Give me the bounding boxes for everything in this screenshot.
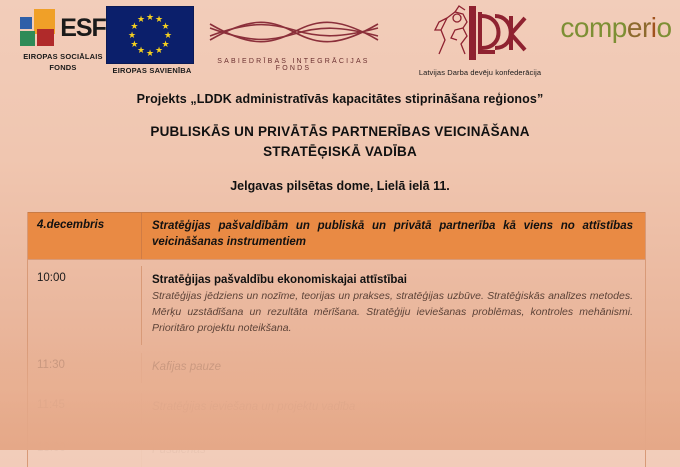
eu-star-icon: ★ bbox=[146, 49, 155, 58]
title-block: Projekts „LDDK administratīvās kapacitāt… bbox=[0, 92, 680, 193]
esf-acronym: ESF bbox=[60, 16, 106, 41]
eu-star-icon: ★ bbox=[155, 46, 164, 55]
lddk-logo: Latvijas Darba devēju konfederācija bbox=[404, 4, 556, 77]
lddk-lion-emblem-icon bbox=[425, 4, 535, 62]
esf-caption-line2: FONDS bbox=[8, 63, 118, 72]
agenda-row-description: Stratēģijas jēdziens un nozīme, teorijas… bbox=[152, 289, 633, 336]
agenda-table: 4.decembris Stratēģijas pašvaldībām un p… bbox=[27, 212, 646, 467]
venue-text: Jelgavas pilsētas dome, Lielā ielā 11. bbox=[0, 179, 680, 193]
table-row: 10:00 Stratēģijas pašvaldību ekonomiskaj… bbox=[28, 260, 645, 345]
comperio-part4: o bbox=[657, 12, 672, 43]
sponsor-logo-strip: ESF EIROPAS SOCIĀLAIS FONDS ★★★★★★★★★★★★… bbox=[0, 0, 680, 86]
eu-flag-logo: ★★★★★★★★★★★★ EIROPAS SAVIENĪBA bbox=[106, 6, 198, 75]
agenda-row-time: 11:45 bbox=[37, 399, 141, 411]
presentation-slide: ESF EIROPAS SOCIĀLAIS FONDS ★★★★★★★★★★★★… bbox=[0, 0, 680, 450]
comperio-wordmark: comperio bbox=[556, 14, 676, 42]
eu-star-icon: ★ bbox=[130, 40, 139, 49]
agenda-row-title: Stratēģijas pašvaldību ekonomiskajai att… bbox=[152, 272, 633, 289]
sif-logo: SABIEDRĪBAS INTEGRĀCIJAS FONDS bbox=[206, 14, 381, 72]
esf-squares-icon bbox=[20, 9, 56, 47]
table-row: 13:00 Pusdienas bbox=[28, 436, 645, 467]
agenda-row-time: 11:30 bbox=[37, 359, 141, 371]
agenda-row-time: 13:00 bbox=[37, 442, 141, 454]
theme-title-line1: PUBLISKĀS UN PRIVĀTĀS PARTNERĪBAS VEICIN… bbox=[0, 122, 680, 142]
eu-flag-icon: ★★★★★★★★★★★★ bbox=[106, 6, 194, 64]
comperio-part1: comp bbox=[560, 12, 626, 43]
sif-crossing-lines-icon bbox=[208, 14, 380, 50]
esf-caption-line1: EIROPAS SOCIĀLAIS bbox=[8, 52, 118, 61]
eu-caption: EIROPAS SAVIENĪBA bbox=[106, 66, 198, 75]
agenda-header-topic: Stratēģijas pašvaldībām un publiskā un p… bbox=[152, 219, 633, 251]
table-row: 11:30 Kafijas pauze bbox=[28, 353, 645, 384]
esf-logo: ESF EIROPAS SOCIĀLAIS FONDS bbox=[8, 6, 118, 73]
eu-star-icon: ★ bbox=[128, 31, 137, 40]
agenda-header-row: 4.decembris Stratēģijas pašvaldībām un p… bbox=[28, 212, 645, 260]
agenda-row-time: 10:00 bbox=[37, 272, 141, 284]
agenda-row-title: Pusdienas bbox=[152, 442, 633, 459]
sif-caption: SABIEDRĪBAS INTEGRĀCIJAS FONDS bbox=[206, 58, 381, 72]
theme-title-line2: STRATĒĢISKĀ VADĪBA bbox=[0, 142, 680, 162]
lddk-caption: Latvijas Darba devēju konfederācija bbox=[404, 68, 556, 77]
agenda-row-title: Stratēģijas ieviešana un projektu vadība bbox=[152, 399, 633, 416]
comperio-part2: er bbox=[627, 12, 651, 43]
eu-star-icon: ★ bbox=[137, 15, 146, 24]
comperio-logo: comperio bbox=[556, 14, 676, 42]
agenda-header-date: 4.decembris bbox=[37, 219, 141, 231]
project-title: Projekts „LDDK administratīvās kapacitāt… bbox=[0, 92, 680, 106]
agenda-row-title: Kafijas pauze bbox=[152, 359, 633, 376]
table-row: 11:45 Stratēģijas ieviešana un projektu … bbox=[28, 393, 645, 424]
eu-star-icon: ★ bbox=[146, 13, 155, 22]
